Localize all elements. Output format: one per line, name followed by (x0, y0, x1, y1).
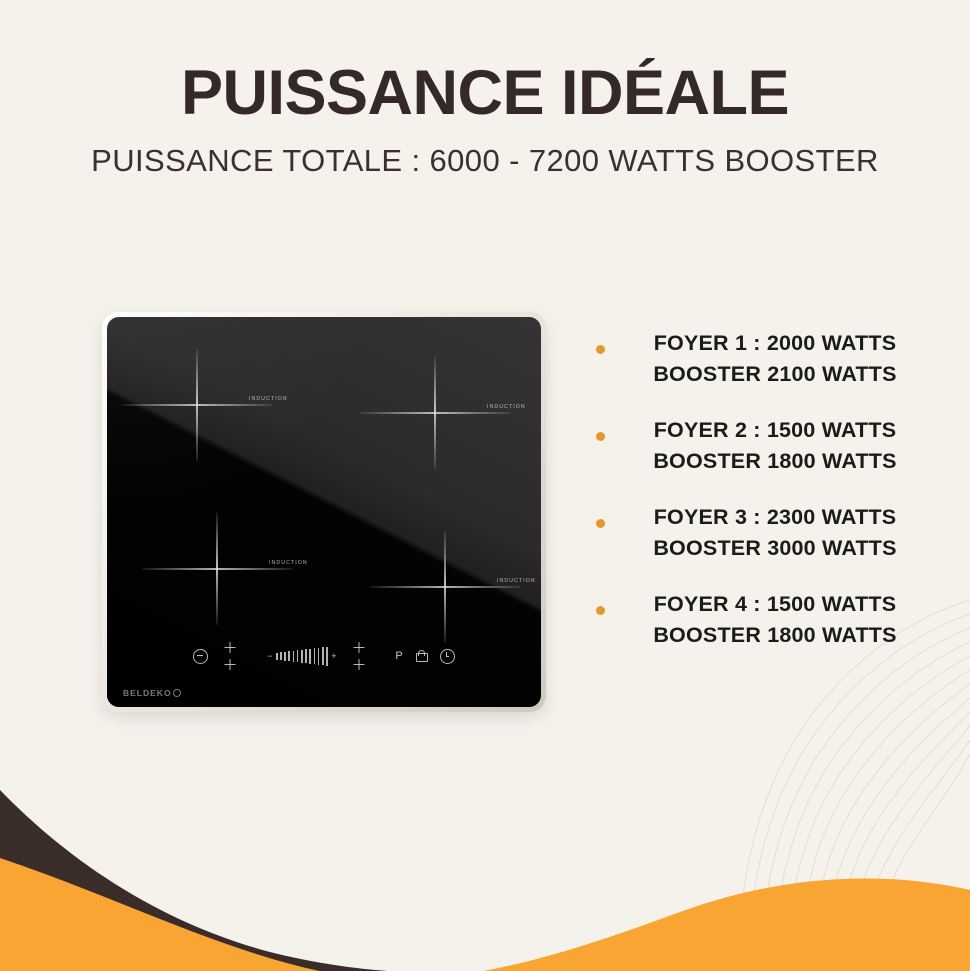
zone-label-4: INDUCTION (497, 578, 536, 584)
spec-line-booster: BOOSTER 1800 WATTS (624, 446, 926, 477)
spec-line-primary: FOYER 1 : 2000 WATTS (624, 328, 926, 359)
slider-bar[interactable] (314, 648, 316, 664)
list-item: FOYER 1 : 2000 WATTS BOOSTER 2100 WATTS (596, 328, 926, 389)
orange-wave (0, 858, 970, 971)
zone-label-1: INDUCTION (249, 396, 288, 402)
brand-logo: BELDEKO (123, 688, 181, 698)
zone-selector-right[interactable] (351, 641, 367, 671)
slider-bar[interactable] (293, 651, 295, 662)
bullet-dot (596, 432, 605, 441)
zone-selector-icon[interactable] (225, 659, 236, 670)
slider-bar[interactable] (276, 653, 278, 660)
zone-label-3: INDUCTION (269, 560, 308, 566)
slider-bar[interactable] (305, 649, 307, 663)
slider-bar[interactable] (284, 652, 286, 661)
slider-bar[interactable] (309, 649, 311, 664)
spec-text-block: FOYER 4 : 1500 WATTS BOOSTER 1800 WATTS (596, 589, 926, 650)
slider-bar[interactable] (301, 650, 303, 663)
slider-bar[interactable] (280, 652, 282, 660)
control-panel[interactable]: − + P (139, 639, 509, 673)
spec-text-block: FOYER 3 : 2300 WATTS BOOSTER 3000 WATTS (596, 502, 926, 563)
zone-selector-icon[interactable] (354, 659, 365, 670)
list-item: FOYER 4 : 1500 WATTS BOOSTER 1800 WATTS (596, 589, 926, 650)
header: PUISSANCE IDÉALE PUISSANCE TOTALE : 6000… (0, 0, 970, 179)
spec-line-booster: BOOSTER 3000 WATTS (624, 533, 926, 564)
spec-text-block: FOYER 2 : 1500 WATTS BOOSTER 1800 WATTS (596, 415, 926, 476)
slider-bar[interactable] (297, 650, 299, 662)
spec-line-booster: BOOSTER 2100 WATTS (624, 359, 926, 390)
slider-minus-label[interactable]: − (266, 652, 273, 661)
slider-bar[interactable] (326, 647, 328, 666)
specs-list: FOYER 1 : 2000 WATTS BOOSTER 2100 WATTS … (596, 328, 926, 650)
glass-sheen (107, 317, 411, 551)
slider-bar[interactable] (288, 651, 290, 661)
brand-logo-mark (173, 689, 181, 697)
spec-line-primary: FOYER 3 : 2300 WATTS (624, 502, 926, 533)
dark-wave (0, 790, 470, 971)
list-item: FOYER 3 : 2300 WATTS BOOSTER 3000 WATTS (596, 502, 926, 563)
zone-selector-icon[interactable] (354, 642, 365, 653)
timer-icon[interactable] (440, 649, 455, 664)
zone-cross-horizontal (360, 412, 510, 414)
zone-cross-horizontal (122, 404, 272, 406)
power-icon[interactable] (193, 649, 208, 664)
bullet-dot (596, 519, 605, 528)
arc-pattern (740, 600, 970, 971)
spec-line-booster: BOOSTER 1800 WATTS (624, 620, 926, 651)
zone-label-2: INDUCTION (487, 404, 526, 410)
page-subtitle: PUISSANCE TOTALE : 6000 - 7200 WATTS BOO… (0, 125, 970, 179)
zone-cross-horizontal (370, 586, 520, 588)
power-level-slider[interactable]: − + (266, 647, 337, 666)
cooktop-glass-surface: INDUCTION INDUCTION INDUCTION INDUCTION (107, 317, 541, 707)
zone-selector-left[interactable] (222, 641, 238, 671)
lock-body (416, 653, 428, 662)
lock-icon[interactable] (416, 650, 426, 662)
spec-line-primary: FOYER 2 : 1500 WATTS (624, 415, 926, 446)
spec-line-primary: FOYER 4 : 1500 WATTS (624, 589, 926, 620)
slider-plus-label[interactable]: + (330, 652, 337, 661)
spec-text-block: FOYER 1 : 2000 WATTS BOOSTER 2100 WATTS (596, 328, 926, 389)
list-item: FOYER 2 : 1500 WATTS BOOSTER 1800 WATTS (596, 415, 926, 476)
page-title: PUISSANCE IDÉALE (0, 62, 970, 125)
induction-cooktop-image: INDUCTION INDUCTION INDUCTION INDUCTION (102, 312, 546, 712)
slider-bar[interactable] (318, 648, 320, 665)
zone-cross-horizontal (142, 568, 292, 570)
brand-logo-text: BELDEKO (123, 688, 172, 698)
slider-bar[interactable] (322, 647, 324, 665)
zone-selector-icon[interactable] (225, 642, 236, 653)
booster-button[interactable]: P (395, 650, 402, 662)
bullet-dot (596, 345, 605, 354)
